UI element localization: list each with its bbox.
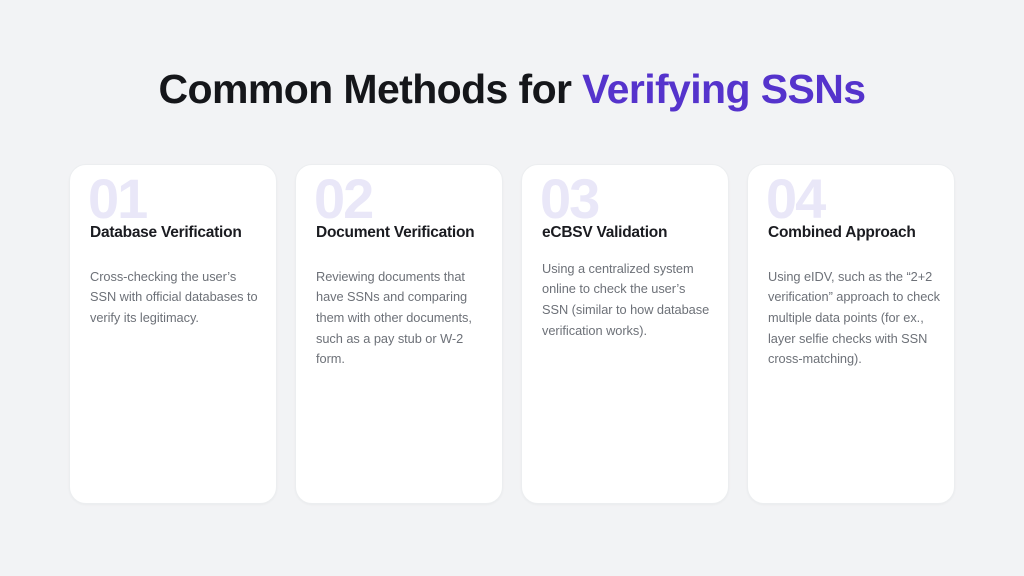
card-description: Reviewing documents that have SSNs and c…	[316, 267, 488, 371]
card-content: eCBSV Validation Using a centralized sys…	[542, 221, 714, 341]
method-card-4[interactable]: 04 Combined Approach Using eIDV, such as…	[747, 164, 955, 504]
card-number-badge: 02	[314, 171, 372, 227]
card-heading: Document Verification	[316, 221, 488, 245]
card-heading: Combined Approach	[768, 221, 940, 245]
card-number-badge: 03	[540, 171, 598, 227]
slide-canvas: Common Methods for Verifying SSNs 01 Dat…	[0, 0, 1024, 576]
page-title: Common Methods for Verifying SSNs	[0, 64, 1024, 114]
title-text: Common Methods for Verifying SSNs	[0, 64, 1024, 114]
method-card-3[interactable]: 03 eCBSV Validation Using a centralized …	[521, 164, 729, 504]
card-content: Document Verification Reviewing document…	[316, 221, 488, 370]
card-number-badge: 04	[766, 171, 824, 227]
method-card-2[interactable]: 02 Document Verification Reviewing docum…	[295, 164, 503, 504]
card-heading: eCBSV Validation	[542, 221, 714, 245]
card-heading: Database Verification	[90, 221, 262, 245]
method-card-1[interactable]: 01 Database Verification Cross-checking …	[69, 164, 277, 504]
card-content: Combined Approach Using eIDV, such as th…	[768, 221, 940, 370]
card-description: Using eIDV, such as the “2+2 verificatio…	[768, 267, 940, 371]
card-description: Cross-checking the user’s SSN with offic…	[90, 267, 262, 329]
method-card-row: 01 Database Verification Cross-checking …	[69, 164, 955, 504]
title-accent: Verifying SSNs	[582, 66, 865, 112]
card-content: Database Verification Cross-checking the…	[90, 221, 262, 329]
card-description: Using a centralized system online to che…	[542, 259, 714, 342]
card-number-badge: 01	[88, 171, 146, 227]
title-lead: Common Methods for	[159, 66, 583, 112]
